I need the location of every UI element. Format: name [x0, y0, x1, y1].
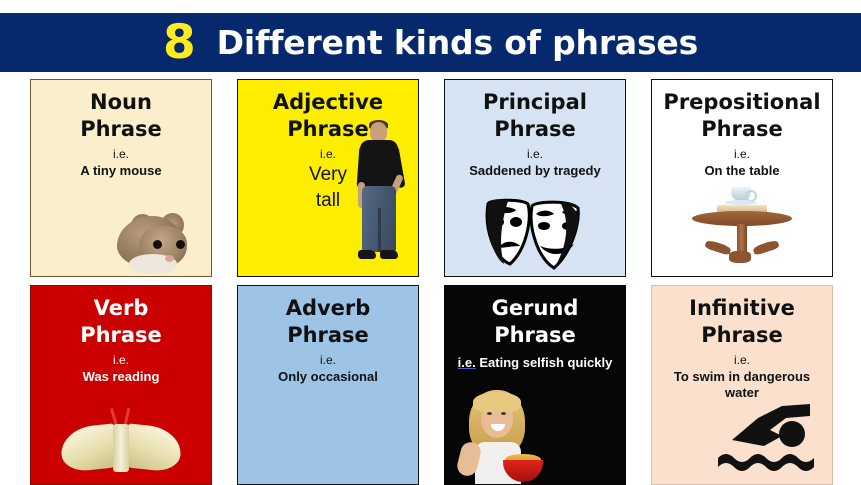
woman-eating-image — [451, 384, 561, 484]
swimmer-image — [712, 400, 824, 480]
card-title: Infinitive Phrase — [652, 295, 832, 349]
card-prepositional-phrase[interactable]: Prepositional Phrase i.e. On the table — [651, 79, 833, 277]
card-ie-label: i.e. — [31, 353, 211, 367]
card-example: On the table — [652, 163, 832, 179]
card-example: Eating selfish quickly — [479, 355, 612, 370]
card-noun-phrase[interactable]: Noun Phrase i.e. A tiny mouse — [30, 79, 212, 277]
card-gerund-phrase[interactable]: Gerund Phrase i.e. Eating selfish quickl… — [444, 285, 626, 485]
card-ie-label: i.e. — [652, 353, 832, 367]
card-title: Prepositional Phrase — [652, 89, 832, 143]
card-example: Only occasional — [238, 369, 418, 385]
page-title: Different kinds of phrases — [217, 26, 698, 59]
card-adverb-phrase[interactable]: Adverb Phrase i.e. Only occasional — [237, 285, 419, 485]
card-example: Was reading — [31, 369, 211, 385]
phrase-count: 8 — [163, 19, 195, 66]
table-with-cup-image — [687, 185, 797, 271]
phrase-cards-grid: Noun Phrase i.e. A tiny mouse Adjective … — [30, 79, 833, 485]
card-title: Gerund Phrase — [445, 295, 625, 349]
card-example: Saddened by tragedy — [445, 163, 625, 179]
card-adjective-phrase[interactable]: Adjective Phrase i.e. Very tall — [237, 79, 419, 277]
card-title: Noun Phrase — [31, 89, 211, 143]
mouse-image — [103, 200, 195, 274]
card-ie-label: i.e. — [238, 147, 418, 161]
card-verb-phrase[interactable]: Verb Phrase i.e. Was reading — [30, 285, 212, 485]
card-example: To swim in dangerous water — [652, 369, 832, 402]
open-book-image — [59, 408, 183, 476]
card-example: Very tall — [238, 162, 418, 213]
card-title: Principal Phrase — [445, 89, 625, 143]
card-infinitive-phrase[interactable]: Infinitive Phrase i.e. To swim in danger… — [651, 285, 833, 485]
card-ie-label: i.e. — [458, 355, 476, 370]
theater-masks-image — [480, 198, 590, 270]
card-ie-label: i.e. — [31, 147, 211, 161]
card-ie-label: i.e. — [445, 147, 625, 161]
card-principal-phrase[interactable]: Principal Phrase i.e. Saddened by traged… — [444, 79, 626, 277]
card-example-with-ie: i.e. Eating selfish quickly — [445, 355, 625, 371]
header-banner: 8 Different kinds of phrases — [0, 13, 861, 72]
card-ie-label: i.e. — [238, 353, 418, 367]
card-title: Verb Phrase — [31, 295, 211, 349]
card-ie-label: i.e. — [652, 147, 832, 161]
card-title: Adverb Phrase — [238, 295, 418, 349]
card-example: A tiny mouse — [31, 163, 211, 179]
card-title: Adjective Phrase — [238, 89, 418, 143]
